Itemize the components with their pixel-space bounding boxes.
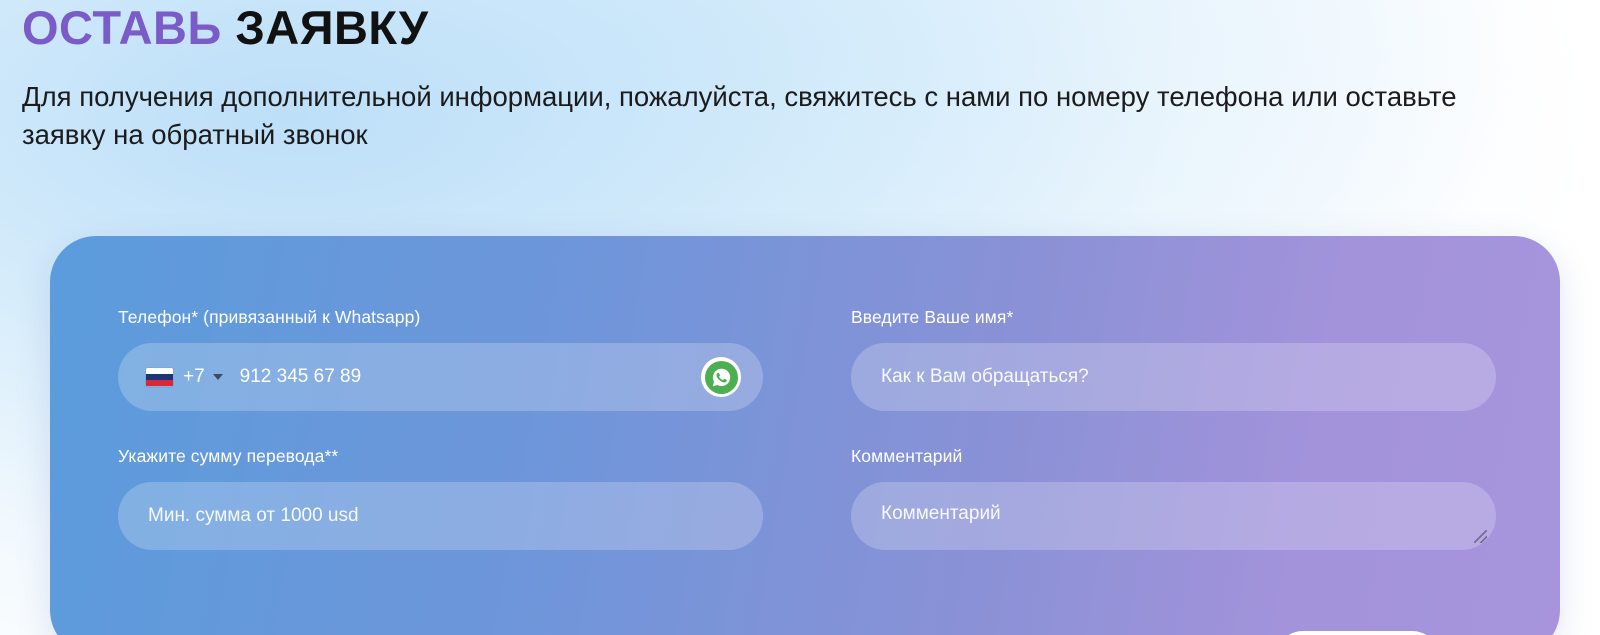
page-header: ОСТАВЬ ЗАЯВКУ Для получения дополнительн… xyxy=(22,0,1562,154)
phone-dial-code: +7 xyxy=(183,366,205,388)
whatsapp-icon[interactable] xyxy=(701,357,741,397)
page-title-plain: ЗАЯВКУ xyxy=(235,1,428,54)
request-form-card: Телефон* (привязанный к Whatsapp) +7 912… xyxy=(50,236,1560,635)
name-label: Введите Ваше имя* xyxy=(851,306,1496,328)
submit-button[interactable] xyxy=(1275,631,1440,635)
page-title: ОСТАВЬ ЗАЯВКУ xyxy=(22,0,1562,56)
amount-label: Укажите сумму перевода** xyxy=(118,445,763,467)
amount-placeholder: Мин. сумма от 1000 usd xyxy=(148,504,359,528)
field-amount: Укажите сумму перевода** Мин. сумма от 1… xyxy=(118,445,763,550)
comment-label: Комментарий xyxy=(851,445,1496,467)
phone-label: Телефон* (привязанный к Whatsapp) xyxy=(118,306,763,328)
amount-input[interactable]: Мин. сумма от 1000 usd xyxy=(118,482,763,550)
chevron-down-icon[interactable] xyxy=(213,374,223,380)
phone-placeholder: 912 345 67 89 xyxy=(240,365,362,389)
form-fields-grid: Телефон* (привязанный к Whatsapp) +7 912… xyxy=(118,306,1496,550)
page-root: ОСТАВЬ ЗАЯВКУ Для получения дополнительн… xyxy=(0,0,1600,635)
page-subtitle: Для получения дополнительной информации,… xyxy=(22,78,1522,154)
comment-textarea[interactable]: Комментарий xyxy=(851,482,1496,550)
comment-placeholder: Комментарий xyxy=(881,502,1001,526)
name-placeholder: Как к Вам обращаться? xyxy=(881,365,1089,389)
russia-flag-icon xyxy=(146,368,173,387)
page-title-accent: ОСТАВЬ xyxy=(22,1,222,54)
name-input[interactable]: Как к Вам обращаться? xyxy=(851,343,1496,411)
field-phone: Телефон* (привязанный к Whatsapp) +7 912… xyxy=(118,306,763,411)
whatsapp-icon-disc xyxy=(705,361,738,394)
phone-input[interactable]: +7 912 345 67 89 xyxy=(118,343,763,411)
field-comment: Комментарий Комментарий xyxy=(851,445,1496,550)
field-name: Введите Ваше имя* Как к Вам обращаться? xyxy=(851,306,1496,411)
resize-handle-icon[interactable] xyxy=(1474,530,1487,543)
